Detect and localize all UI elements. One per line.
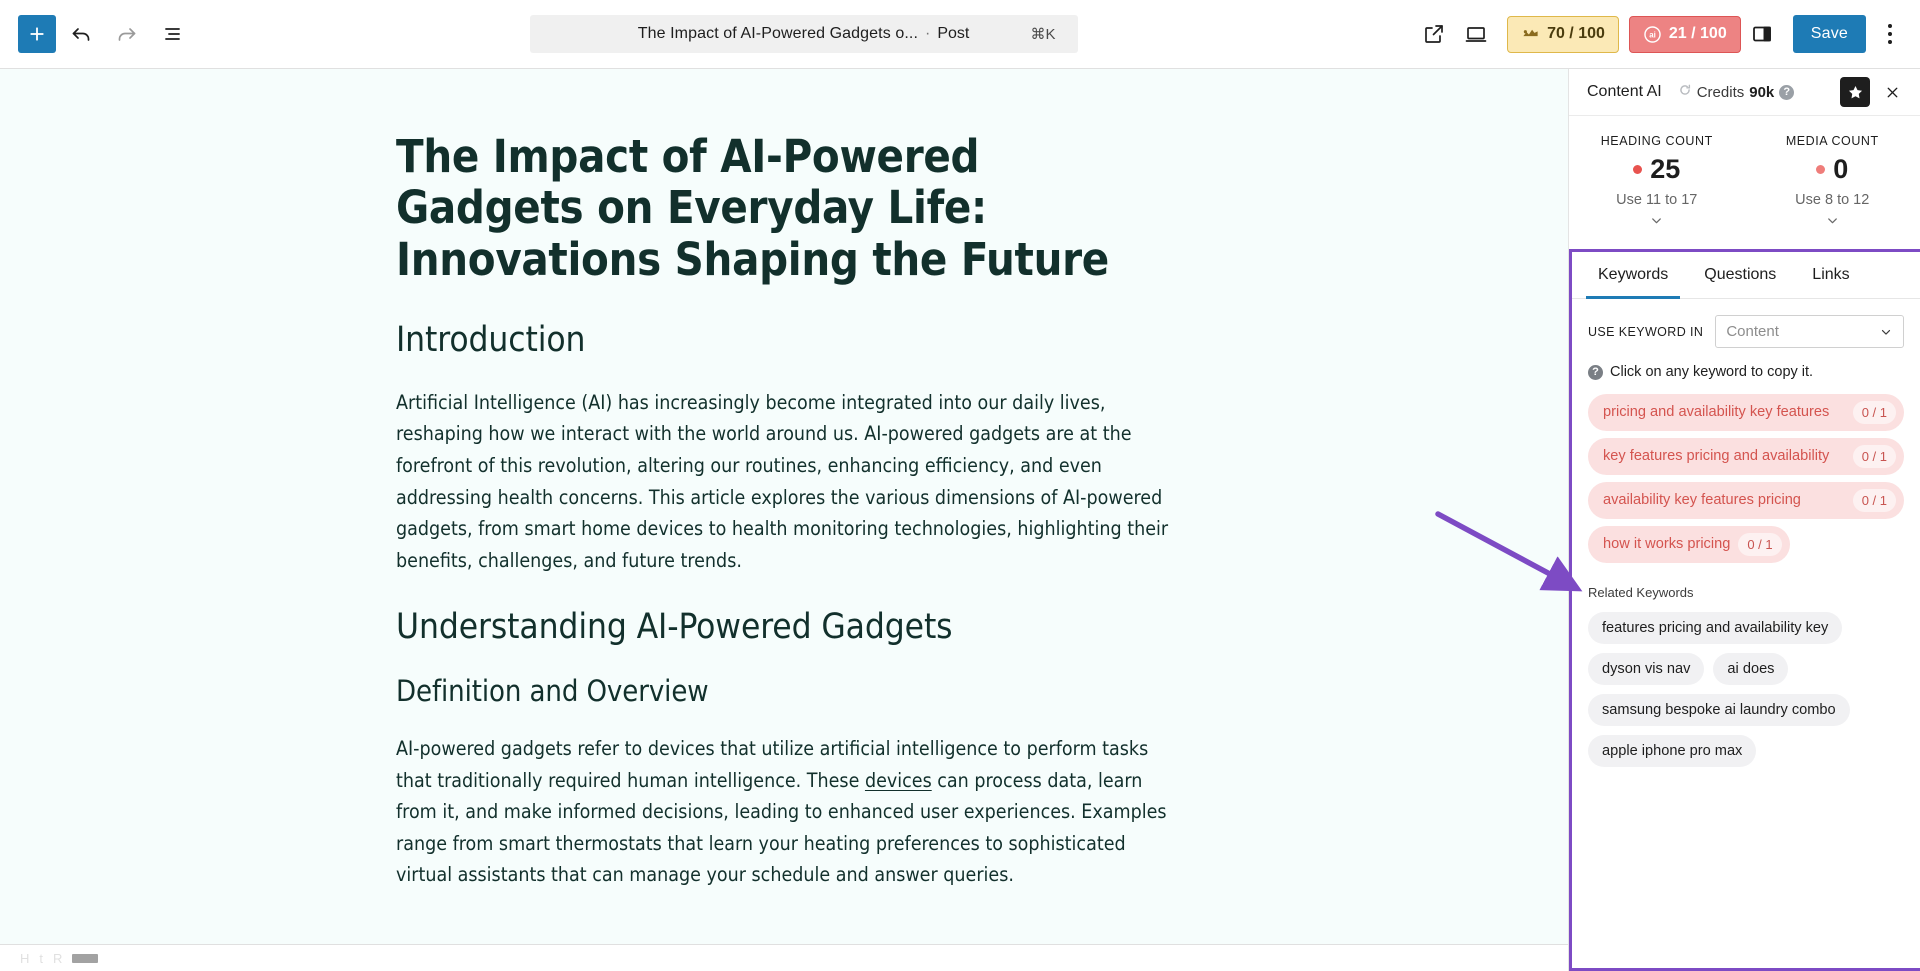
- tab-questions[interactable]: Questions: [1692, 252, 1788, 299]
- editor-top-toolbar: The Impact of AI-Powered Gadgets o... · …: [0, 0, 1920, 69]
- heading-definition[interactable]: Definition and Overview: [396, 674, 1186, 709]
- document-overview-button[interactable]: [152, 13, 194, 55]
- plus-icon: [26, 23, 48, 45]
- heading-understanding[interactable]: Understanding AI-Powered Gadgets: [396, 606, 1186, 648]
- block-breadcrumb[interactable]: H t R: [0, 944, 1568, 971]
- content-ai-score-badge[interactable]: ai 21 / 100: [1629, 16, 1741, 53]
- toolbar-right-group: 70 / 100 ai 21 / 100 Save: [1413, 13, 1920, 55]
- help-icon[interactable]: ?: [1588, 365, 1603, 380]
- star-icon: [1847, 84, 1864, 101]
- keyword-count: 0 / 1: [1738, 533, 1781, 556]
- breadcrumb-item: H: [20, 951, 29, 966]
- editor-app: The Impact of AI-Powered Gadgets o... · …: [0, 0, 1920, 971]
- status-dot-icon: [1633, 165, 1642, 174]
- keywords-scroll-area: USE KEYWORD IN Content ? Click on any ke…: [1572, 299, 1920, 968]
- rank-seal-icon: [1521, 25, 1540, 44]
- redo-icon: [115, 22, 139, 46]
- use-keyword-in-label: USE KEYWORD IN: [1588, 325, 1703, 339]
- toolbar-center-group: The Impact of AI-Powered Gadgets o... · …: [194, 15, 1413, 53]
- keyword-text: availability key features pricing: [1603, 491, 1801, 511]
- chevron-down-icon: [1649, 213, 1664, 228]
- chevron-down-icon: [1825, 213, 1840, 228]
- title-separator: ·: [925, 25, 930, 43]
- redo-button[interactable]: [106, 13, 148, 55]
- seo-score-badge[interactable]: 70 / 100: [1507, 16, 1619, 53]
- paragraph-introduction[interactable]: Artificial Intelligence (AI) has increas…: [396, 387, 1186, 576]
- stat-heading-count: HEADING COUNT 25 Use 11 to 17: [1569, 134, 1745, 233]
- related-keyword-pill[interactable]: ai does: [1713, 653, 1788, 685]
- panel-title: Content AI: [1587, 83, 1662, 101]
- keyword-count: 0 / 1: [1853, 445, 1896, 468]
- help-icon[interactable]: ?: [1779, 85, 1794, 100]
- editor-scroll-area: The Impact of AI-Powered Gadgets on Ever…: [0, 69, 1568, 971]
- refresh-icon: [1678, 83, 1692, 97]
- keyword-count: 0 / 1: [1853, 401, 1896, 424]
- add-block-button[interactable]: [18, 15, 56, 53]
- copy-hint-text: Click on any keyword to copy it.: [1610, 364, 1813, 380]
- stat-label: MEDIA COUNT: [1745, 134, 1920, 148]
- undo-icon: [69, 22, 93, 46]
- stat-value-row: 0: [1745, 156, 1920, 183]
- undo-button[interactable]: [60, 13, 102, 55]
- stat-value-row: 25: [1569, 156, 1745, 183]
- editor-canvas[interactable]: The Impact of AI-Powered Gadgets on Ever…: [0, 69, 1569, 971]
- document-content: The Impact of AI-Powered Gadgets on Ever…: [396, 131, 1186, 891]
- list-view-icon: [161, 22, 185, 46]
- keyword-pill[interactable]: how it works pricing 0 / 1: [1588, 526, 1790, 563]
- tab-keywords[interactable]: Keywords: [1586, 252, 1680, 299]
- post-title[interactable]: The Impact of AI-Powered Gadgets on Ever…: [396, 131, 1156, 285]
- content-ai-header: Content AI Credits 90k ?: [1569, 69, 1920, 116]
- content-ai-panel: Content AI Credits 90k ?: [1569, 69, 1920, 971]
- credits-value: 90k: [1749, 84, 1774, 101]
- close-icon: [1884, 84, 1901, 101]
- keyword-pill[interactable]: availability key features pricing 0 / 1: [1588, 482, 1904, 519]
- breadcrumb-item: R: [53, 951, 62, 966]
- related-keyword-pill[interactable]: features pricing and availability key: [1588, 612, 1842, 644]
- use-keyword-in-value: Content: [1726, 323, 1779, 340]
- stat-hint: Use 11 to 17: [1569, 192, 1745, 208]
- upgrade-star-button[interactable]: [1840, 77, 1870, 107]
- preview-device-button[interactable]: [1455, 13, 1497, 55]
- settings-sidebar-toggle[interactable]: [1741, 13, 1783, 55]
- toolbar-left-group: [0, 13, 194, 55]
- expand-media-count-button[interactable]: [1745, 213, 1920, 233]
- keyword-text: pricing and availability key features: [1603, 403, 1829, 423]
- related-keyword-pill[interactable]: apple iphone pro max: [1588, 735, 1756, 767]
- keyword-list: pricing and availability key features 0 …: [1572, 380, 1920, 563]
- credits-label: Credits: [1697, 84, 1745, 101]
- document-type: Post: [937, 25, 969, 43]
- save-button[interactable]: Save: [1793, 15, 1866, 53]
- view-post-button[interactable]: [1413, 13, 1455, 55]
- close-panel-button[interactable]: [1878, 78, 1906, 106]
- keyword-pill[interactable]: pricing and availability key features 0 …: [1588, 394, 1904, 431]
- paragraph-definition[interactable]: AI-powered gadgets refer to devices that…: [396, 733, 1186, 891]
- related-keywords-list: features pricing and availability key dy…: [1572, 600, 1920, 767]
- related-keyword-pill[interactable]: dyson vis nav: [1588, 653, 1704, 685]
- chevron-down-icon: [1879, 325, 1893, 339]
- document-title: The Impact of AI-Powered Gadgets o...: [638, 25, 918, 43]
- stat-hint: Use 8 to 12: [1745, 192, 1920, 208]
- copy-hint-row: ? Click on any keyword to copy it.: [1572, 348, 1920, 380]
- stat-value: 0: [1833, 156, 1848, 183]
- more-options-button[interactable]: [1870, 14, 1910, 54]
- devices-link[interactable]: devices: [865, 769, 932, 792]
- use-keyword-in-select[interactable]: Content: [1715, 315, 1904, 348]
- breadcrumb-block: [72, 954, 98, 963]
- panel-tabs: Keywords Questions Links: [1572, 252, 1920, 299]
- stat-media-count: MEDIA COUNT 0 Use 8 to 12: [1745, 134, 1920, 233]
- seo-score-value: 70 / 100: [1547, 25, 1605, 43]
- related-keyword-pill[interactable]: samsung bespoke ai laundry combo: [1588, 694, 1850, 726]
- content-ai-icon: ai: [1643, 25, 1662, 44]
- sidebar-toggle-icon: [1750, 22, 1774, 46]
- keyword-pill[interactable]: key features pricing and availability 0 …: [1588, 438, 1904, 475]
- keyword-text: how it works pricing: [1603, 535, 1730, 555]
- content-stats: HEADING COUNT 25 Use 11 to 17 MEDIA COUN…: [1569, 116, 1920, 239]
- refresh-credits-button[interactable]: [1678, 83, 1692, 102]
- breadcrumb-item: t: [39, 951, 43, 966]
- document-title-bar[interactable]: The Impact of AI-Powered Gadgets o... · …: [530, 15, 1078, 53]
- desktop-preview-icon: [1464, 22, 1488, 46]
- stat-value: 25: [1650, 156, 1680, 183]
- stat-label: HEADING COUNT: [1569, 134, 1745, 148]
- keywords-section: Keywords Questions Links USE KEYWORD IN …: [1569, 249, 1920, 971]
- kebab-menu-icon: [1888, 22, 1892, 46]
- keyword-count: 0 / 1: [1853, 489, 1896, 512]
- expand-heading-count-button[interactable]: [1569, 213, 1745, 233]
- keyword-text: key features pricing and availability: [1603, 447, 1829, 467]
- credits-group: Credits 90k ?: [1678, 83, 1795, 102]
- editor-body: The Impact of AI-Powered Gadgets on Ever…: [0, 69, 1920, 971]
- use-keyword-in-row: USE KEYWORD IN Content: [1572, 299, 1920, 348]
- tab-links[interactable]: Links: [1800, 252, 1861, 299]
- heading-introduction[interactable]: Introduction: [396, 319, 1186, 361]
- status-dot-icon: [1816, 165, 1825, 174]
- ai-score-value: 21 / 100: [1669, 25, 1727, 43]
- related-keywords-title: Related Keywords: [1572, 563, 1920, 600]
- svg-text:ai: ai: [1649, 30, 1656, 39]
- external-link-icon: [1422, 22, 1446, 46]
- command-shortcut: ⌘K: [1031, 25, 1056, 43]
